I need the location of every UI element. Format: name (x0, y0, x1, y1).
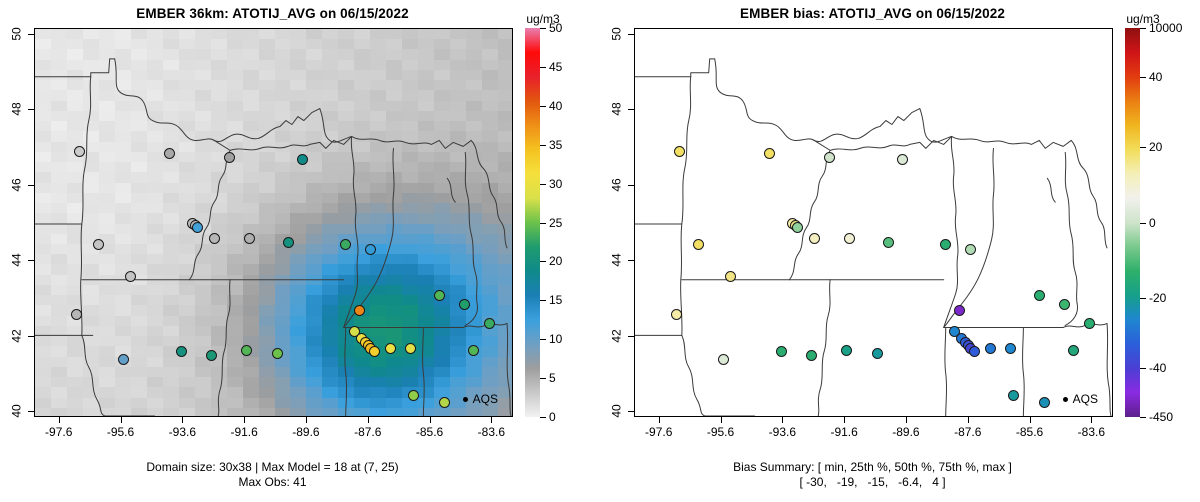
panel-title-model: EMBER 36km: ATOTIJ_AVG on 06/15/2022 (0, 6, 545, 21)
colorbar-tick-label: 5 (549, 371, 556, 385)
aqs-station-point (385, 343, 396, 354)
colorbar-gradient-model (525, 28, 540, 417)
y-axis-tick-label: 50 (610, 27, 624, 40)
aqs-station-point (693, 239, 704, 250)
x-axis-tick (1030, 417, 1031, 423)
aqs-station-point (809, 233, 820, 244)
aqs-station-point (354, 305, 365, 316)
x-axis-tick-label: -87.6 (354, 425, 381, 439)
x-axis-tick (1091, 417, 1092, 423)
colorbar-tick-label: 10000 (1149, 21, 1182, 35)
aqs-station-point (671, 309, 682, 320)
colorbar-tick-label: 25 (549, 216, 562, 230)
y-axis-tick-label: 46 (10, 178, 24, 191)
x-axis-tick-label: -91.6 (230, 425, 257, 439)
aqs-station-point (1068, 345, 1079, 356)
x-axis-tick-label: -93.6 (169, 425, 196, 439)
x-axis-tick (182, 417, 183, 423)
caption-line-1: Domain size: 30x38 | Max Model = 18 at (… (0, 460, 545, 475)
aqs-station-point (118, 354, 129, 365)
aqs-station-point (209, 233, 220, 244)
colorbar-tick (540, 417, 546, 418)
y-axis-tick-label: 40 (610, 405, 624, 418)
y-axis-tick (628, 411, 634, 412)
y-axis-tick-label: 42 (610, 329, 624, 342)
x-axis-tick (491, 417, 492, 423)
caption-line-2: Max Obs: 41 (0, 475, 545, 490)
x-axis-tick-label: -85.6 (416, 425, 443, 439)
aqs-station-point (340, 239, 351, 250)
caption-line-2: [ -30, -19, -15, -6.4, 4 ] (600, 475, 1145, 490)
colorbar-tick (1140, 417, 1146, 418)
x-axis-tick (430, 417, 431, 423)
x-axis-tick (906, 417, 907, 423)
aqs-station-point (408, 390, 419, 401)
y-axis-tick-label: 44 (610, 254, 624, 267)
colorbar-tick (1140, 223, 1146, 224)
aqs-station-point (297, 154, 308, 165)
y-axis-tick-label: 48 (10, 103, 24, 116)
aqs-station-point (241, 345, 252, 356)
x-axis-tick-label: -87.6 (954, 425, 981, 439)
colorbar-tick-label: 20 (1149, 140, 1162, 154)
colorbar-tick (1140, 368, 1146, 369)
colorbar-tick (540, 378, 546, 379)
x-axis-tick (659, 417, 660, 423)
y-axis-tick (28, 336, 34, 337)
aqs-station-point (192, 222, 203, 233)
x-axis-tick-label: -89.6 (892, 425, 919, 439)
x-axis-tick-label: -97.6 (45, 425, 72, 439)
panel-bias: EMBER bias: ATOTIJ_AVG on 06/15/2022 (600, 0, 1200, 502)
colorbar-tick-label: 45 (549, 60, 562, 74)
y-axis-tick (28, 34, 34, 35)
x-axis-tick-label: -83.6 (1078, 425, 1105, 439)
colorbar-tick (1140, 298, 1146, 299)
colorbar-tick-label: -450 (1149, 410, 1173, 424)
aqs-legend-bias: AQS (1063, 392, 1098, 406)
aqs-station-point (806, 350, 817, 361)
aqs-station-point (897, 154, 908, 165)
x-axis-tick-label: -93.6 (769, 425, 796, 439)
aqs-station-point (985, 343, 996, 354)
colorbar-tick-label: 0 (549, 410, 556, 424)
colorbar-tick-label: 40 (549, 99, 562, 113)
x-axis-tick (368, 417, 369, 423)
caption-bias: Bias Summary: [ min, 25th %, 50th %, 75t… (600, 460, 1145, 490)
colorbar-tick (540, 300, 546, 301)
aqs-station-point (1008, 390, 1019, 401)
colorbar-tick (540, 339, 546, 340)
map-frame-bias: AQS (634, 28, 1113, 417)
x-axis-tick-label: -89.6 (292, 425, 319, 439)
aqs-legend-label: AQS (473, 392, 498, 406)
aqs-marker-icon (463, 397, 468, 402)
x-axis-tick (121, 417, 122, 423)
colorbar-tick (540, 184, 546, 185)
x-axis-tick-label: -83.6 (478, 425, 505, 439)
colorbar-tick-label: -40 (1149, 361, 1166, 375)
aqs-station-point (206, 350, 217, 361)
x-axis-tick (782, 417, 783, 423)
caption-line-1: Bias Summary: [ min, 25th %, 50th %, 75t… (600, 460, 1145, 475)
panel-model: EMBER 36km: ATOTIJ_AVG on 06/15/2022 (0, 0, 600, 502)
x-axis-tick (59, 417, 60, 423)
map-frame-model: AQS (34, 28, 513, 417)
colorbar-tick (540, 223, 546, 224)
aqs-legend-label: AQS (1073, 392, 1098, 406)
colorbar-tick (540, 106, 546, 107)
x-axis-tick-label: -95.6 (107, 425, 134, 439)
colorbar-tick-label: 30 (549, 177, 562, 191)
colorbar-tick (540, 145, 546, 146)
x-axis-tick (968, 417, 969, 423)
colorbar-tick (1140, 147, 1146, 148)
x-axis-tick-label: -95.6 (707, 425, 734, 439)
figure-root: EMBER 36km: ATOTIJ_AVG on 06/15/2022 (0, 0, 1200, 502)
y-axis-tick (628, 185, 634, 186)
caption-model: Domain size: 30x38 | Max Model = 18 at (… (0, 460, 545, 490)
y-axis-tick (628, 260, 634, 261)
x-axis-tick-label: -97.6 (645, 425, 672, 439)
aqs-station-point (792, 222, 803, 233)
y-axis-tick-label: 50 (10, 27, 24, 40)
x-axis-tick-label: -91.6 (830, 425, 857, 439)
aqs-station-point (940, 239, 951, 250)
y-axis-tick (28, 260, 34, 261)
panel-title-bias: EMBER bias: ATOTIJ_AVG on 06/15/2022 (600, 6, 1145, 21)
aqs-station-point (954, 305, 965, 316)
x-axis-tick (721, 417, 722, 423)
y-axis-tick-label: 48 (610, 103, 624, 116)
colorbar-tick (540, 28, 546, 29)
y-axis-tick-label: 40 (10, 405, 24, 418)
colorbar-tick-label: 50 (549, 21, 562, 35)
y-axis-tick-label: 46 (610, 178, 624, 191)
y-axis-tick (628, 109, 634, 110)
y-axis-tick (28, 109, 34, 110)
x-axis-tick (306, 417, 307, 423)
colorbar-tick-label: 20 (549, 254, 562, 268)
aqs-station-point (484, 318, 495, 329)
colorbar-tick-label: -20 (1149, 291, 1166, 305)
y-axis-tick (628, 34, 634, 35)
colorbar-tick-label: 0 (1149, 216, 1156, 230)
aqs-station-point (164, 148, 175, 159)
aqs-station-point (883, 237, 894, 248)
aqs-station-point (841, 345, 852, 356)
aqs-station-point (93, 239, 104, 250)
colorbar-tick (540, 67, 546, 68)
aqs-station-point (468, 345, 479, 356)
aqs-marker-icon (1063, 397, 1068, 402)
y-axis-tick (628, 336, 634, 337)
colorbar-tick-label: 10 (549, 332, 562, 346)
aqs-station-point (283, 237, 294, 248)
x-axis-tick-label: -85.6 (1016, 425, 1043, 439)
y-axis-tick (28, 411, 34, 412)
colorbar-gradient-bias (1125, 28, 1140, 417)
colorbar-tick-label: 15 (549, 293, 562, 307)
colorbar-tick (1140, 28, 1146, 29)
colorbar-tick-label: 40 (1149, 70, 1162, 84)
x-axis-tick (844, 417, 845, 423)
y-axis-tick (28, 185, 34, 186)
colorbar-tick (540, 261, 546, 262)
colorbar-tick-label: 35 (549, 138, 562, 152)
aqs-station-point (718, 354, 729, 365)
aqs-station-point (71, 309, 82, 320)
x-axis-tick (244, 417, 245, 423)
aqs-legend-model: AQS (463, 392, 498, 406)
aqs-station-point (764, 148, 775, 159)
y-axis-tick-label: 42 (10, 329, 24, 342)
colorbar-tick (1140, 77, 1146, 78)
y-axis-tick-label: 44 (10, 254, 24, 267)
aqs-station-point (1084, 318, 1095, 329)
